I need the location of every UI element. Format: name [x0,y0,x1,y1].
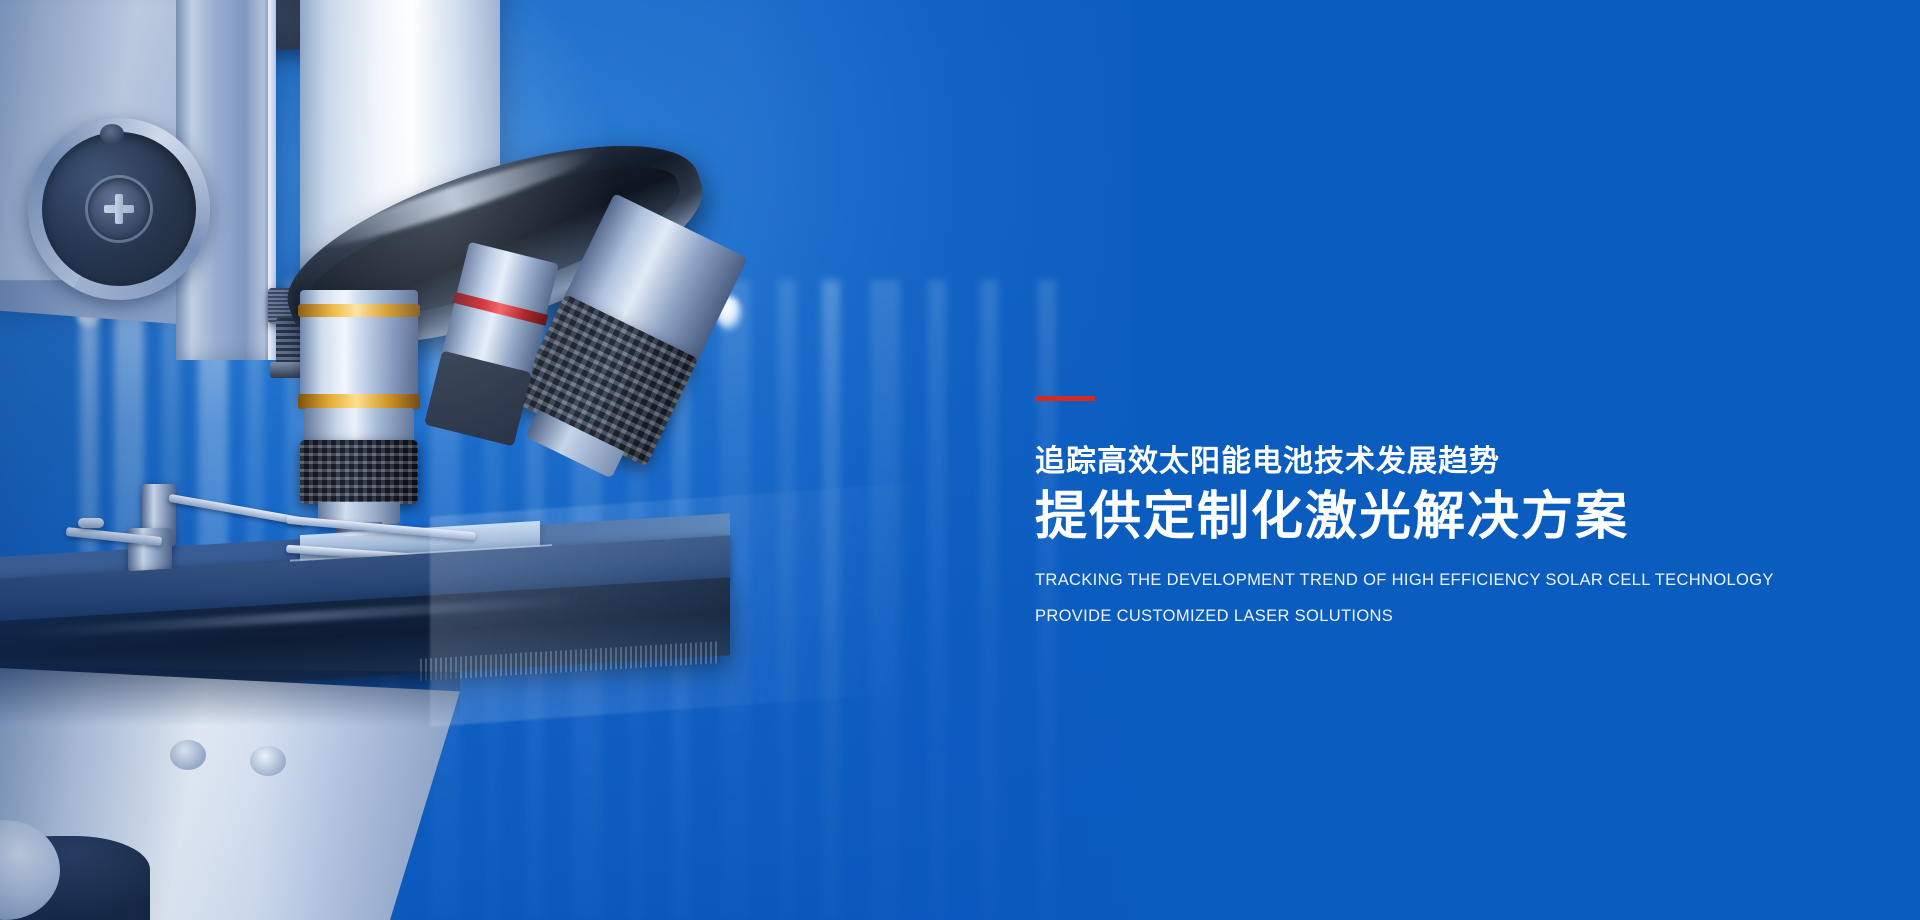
focus-knob-ring [42,132,196,286]
microscope-focus-knob [28,118,210,300]
objective-knurled-grip [300,440,418,504]
microscope-base-shadow [0,666,460,726]
objective-lens-front-amber [300,290,418,530]
glass-reflection-overlay [430,483,910,727]
focus-knob-center [88,178,150,240]
banner-copy: 追踪高效太阳能电池技术发展趋势 提供定制化激光解决方案 TRACKING THE… [1035,396,1865,625]
microscope-screw [100,124,124,144]
light-streak [980,280,998,920]
light-streak [928,280,946,920]
microscope-base-screw [170,740,206,770]
banner-subtitle-line-1: TRACKING THE DEVELOPMENT TREND OF HIGH E… [1035,572,1865,589]
hero-banner: 追踪高效太阳能电池技术发展趋势 提供定制化激光解决方案 TRACKING THE… [0,0,1920,920]
stage-clip-tip [78,518,104,528]
accent-rule [1035,396,1095,401]
microscope-illustration [0,0,880,920]
banner-subtitle-line-2: PROVIDE CUSTOMIZED LASER SOLUTIONS [1035,608,1865,625]
microscope-base-screw [250,746,286,776]
objective-mid-section [304,408,414,444]
phillips-screw-icon [115,194,123,224]
banner-headline: 提供定制化激光解决方案 [1035,488,1865,548]
objective-amber-band [298,304,420,317]
objective-amber-band [298,394,420,409]
banner-kicker: 追踪高效太阳能电池技术发展趋势 [1035,445,1865,478]
